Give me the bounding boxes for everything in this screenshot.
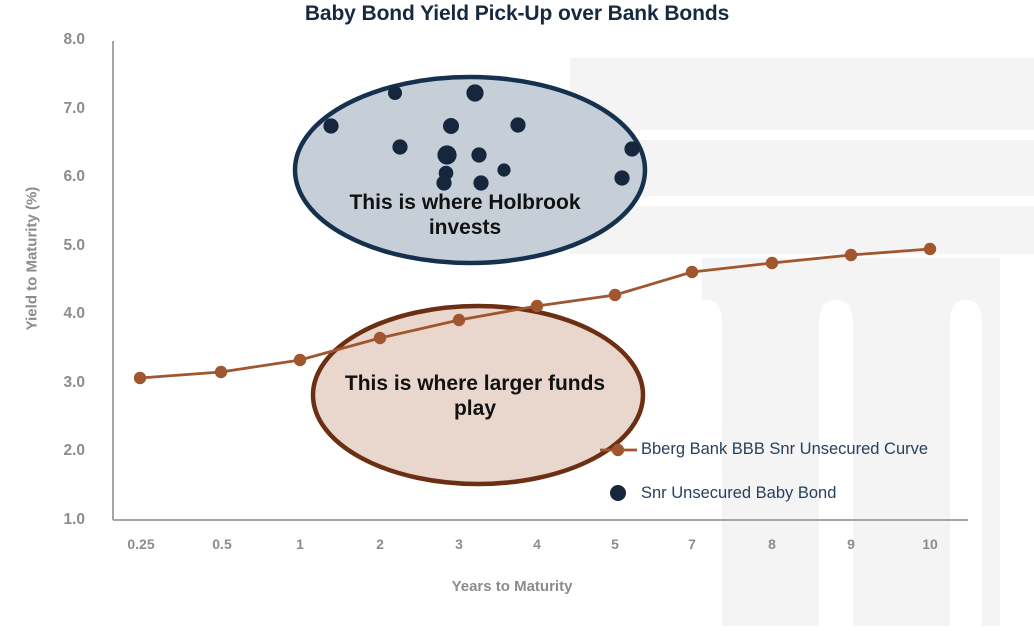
x-tick-4: 4 [507,536,567,552]
annotation-ellipse-holbrook [295,77,645,263]
legend-item-baby-bond[interactable]: Snr Unsecured Baby Bond [641,484,836,503]
y-tick-8: 8.0 [25,31,85,49]
chart-title: Baby Bond Yield Pick-Up over Bank Bonds [0,0,1034,26]
x-tick-5: 5 [585,536,645,552]
x-tick-0-5: 0.5 [192,536,252,552]
x-tick-2: 2 [350,536,410,552]
x-tick-7: 7 [662,536,722,552]
y-tick-3: 3.0 [25,374,85,392]
x-tick-1: 1 [270,536,330,552]
chart-container: Baby Bond Yield Pick-Up over Bank Bonds [0,0,1034,626]
x-axis-label: Years to Maturity [337,578,687,595]
plot-area [0,0,1034,626]
y-tick-1: 1.0 [25,511,85,529]
annotation-ellipse-larger-funds [313,306,643,484]
x-tick-8: 8 [742,536,802,552]
x-tick-10: 10 [900,536,960,552]
y-tick-7: 7.0 [25,100,85,118]
x-tick-0-25: 0.25 [111,536,171,552]
legend-item-bberg-curve[interactable]: Bberg Bank BBB Snr Unsecured Curve [641,440,928,459]
y-tick-2: 2.0 [25,442,85,460]
x-tick-9: 9 [821,536,881,552]
y-axis-label: Yield to Maturity (%) [24,159,41,359]
x-tick-3: 3 [429,536,489,552]
